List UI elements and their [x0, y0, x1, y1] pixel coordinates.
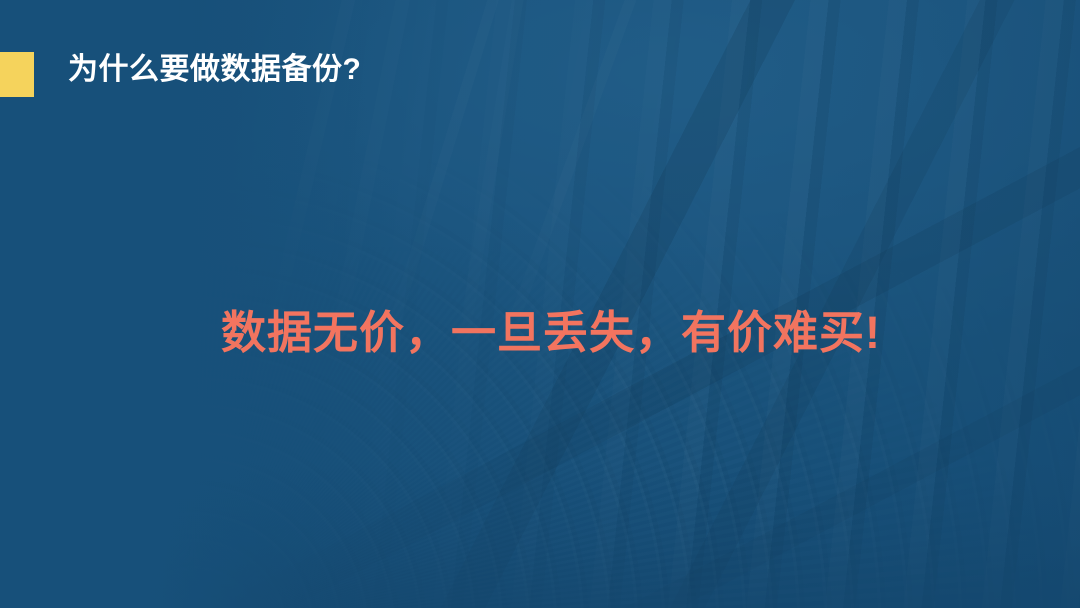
headline-block: 数据无价，一旦丢失，有价难买!	[0, 302, 1080, 364]
slide-title: 为什么要做数据备份?	[68, 50, 361, 90]
yellow-accent-square	[0, 52, 34, 97]
headline-text: 数据无价，一旦丢失，有价难买!	[199, 302, 881, 364]
slide-content: 为什么要做数据备份? 数据无价，一旦丢失，有价难买!	[0, 0, 1080, 608]
presentation-slide: 为什么要做数据备份? 数据无价，一旦丢失，有价难买!	[0, 0, 1080, 608]
